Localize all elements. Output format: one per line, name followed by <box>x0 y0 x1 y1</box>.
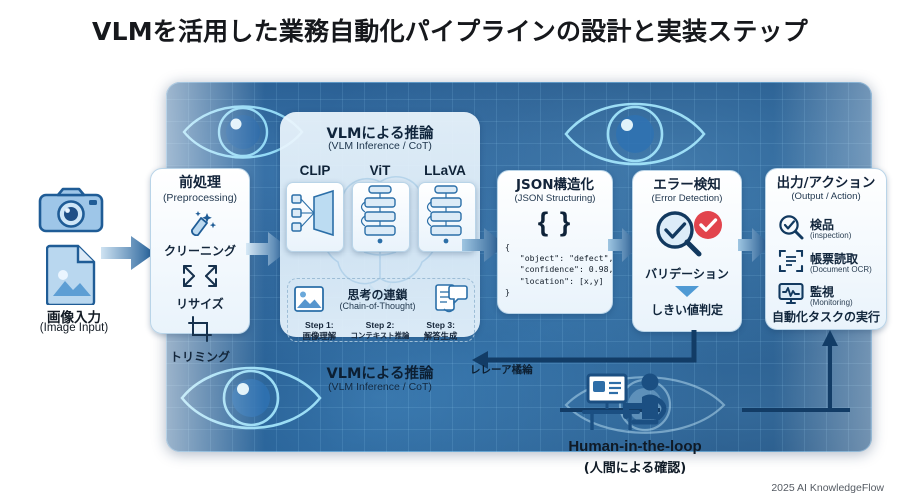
cleaning-sparkle-icon <box>183 210 217 241</box>
model-name-vit: ViT <box>350 163 410 178</box>
diagram-canvas: VLMを活用した業務自動化パイプラインの設計と実装ステップ <box>0 0 900 502</box>
preprocessing-item-0-label: クリーニング <box>164 242 236 259</box>
output-item-0-en: (inspection) <box>810 232 851 240</box>
model-name-clip: CLIP <box>285 163 345 178</box>
input-label-en: (Image Input) <box>16 322 132 334</box>
model-name-llava: LLaVA <box>415 163 475 178</box>
error-title-en: (Error Detection) <box>633 194 741 205</box>
output-item-ocr[interactable]: 帳票読取 (Document OCR) <box>778 248 872 279</box>
ocr-scan-icon <box>778 248 804 279</box>
cot-step-3-label: 解答生成 <box>410 330 471 342</box>
cot-step-1-label: 画像理解 <box>289 330 350 342</box>
cot-steps: Step 1: 画像理解 Step 2: コンテキスト推論 Step 3: 解答… <box>289 320 471 342</box>
model-card-vit[interactable] <box>352 182 410 252</box>
camera-icon <box>38 185 104 240</box>
clip-architecture-icon <box>287 183 341 243</box>
cot-step-3-number: Step 3: <box>410 320 471 330</box>
vlm-bottom-title-en: (VLM Inference / CoT) <box>270 381 490 393</box>
output-title-jp: 出力/アクション <box>766 176 886 191</box>
card-error-detection[interactable]: エラー検知 (Error Detection) バリデーション しきい値判定 <box>632 170 742 332</box>
output-title-en: (Output / Action) <box>766 192 886 203</box>
resize-arrows-icon <box>180 263 220 294</box>
footer-watermark: 2025 AI KnowledgeFlow <box>771 482 884 494</box>
crop-icon <box>185 316 215 347</box>
page-title: VLMを活用した業務自動化パイプラインの設計と実装ステップ <box>0 12 900 48</box>
hil-title: Human-in-the-loop <box>520 438 750 455</box>
preprocessing-title-jp: 前処理 <box>151 176 249 192</box>
card-json-structuring[interactable]: JSON構造化 (JSON Structuring) { } { "object… <box>497 170 613 314</box>
json-code-sample: { "object": "defect", "confidence": 0.98… <box>505 242 612 299</box>
card-output-action[interactable]: 出力/アクション (Output / Action) 検品 (inspectio… <box>765 168 887 330</box>
cot-step-1: Step 1: 画像理解 <box>289 320 350 342</box>
json-title-en: (JSON Structuring) <box>498 194 612 205</box>
model-card-clip[interactable] <box>286 182 344 252</box>
output-item-2-en: (Monitoring) <box>810 299 853 307</box>
preprocessing-item-2-label: トリミング <box>170 348 230 365</box>
cot-step-3: Step 3: 解答生成 <box>410 320 471 342</box>
error-mid-label: バリデーション <box>633 265 741 282</box>
json-braces-icon: { } <box>498 209 612 236</box>
cot-step-2: Step 2: コンテキスト推論 <box>350 320 411 341</box>
cot-title-en: (Chain-of-Thought) <box>320 301 435 311</box>
card-preprocessing[interactable]: 前処理 (Preprocessing) クリーニング <box>150 168 250 334</box>
output-item-1-en: (Document OCR) <box>810 266 872 274</box>
feedback-label: レレーア橘綸 <box>470 362 533 377</box>
error-bottom-label: しきい値判定 <box>633 301 741 318</box>
arrow-input-to-preprocess <box>101 236 155 275</box>
red-check-badge-icon <box>694 211 722 239</box>
output-item-1-jp: 帳票読取 <box>810 253 872 266</box>
output-item-2-jp: 監視 <box>810 286 853 299</box>
output-item-0-jp: 検品 <box>810 219 851 232</box>
preprocessing-item-1-label: リサイズ <box>176 295 224 312</box>
inspection-magnifier-icon <box>778 214 804 245</box>
hil-subtitle: (人間による確認) <box>520 457 750 476</box>
cot-step-2-label: コンテキスト推論 <box>350 330 411 341</box>
error-title-jp: エラー検知 <box>633 178 741 193</box>
json-title-jp: JSON構造化 <box>498 178 612 193</box>
vlm-model-names: CLIP ViT LLaVA <box>285 163 475 178</box>
preprocessing-title-en: (Preprocessing) <box>151 193 249 205</box>
document-reasoning-icon <box>434 283 468 320</box>
cot-step-2-number: Step 2: <box>350 320 411 330</box>
chevron-down-icon <box>633 285 741 298</box>
output-footer-label: 自動化タスクの実行 <box>766 308 886 325</box>
image-file-icon <box>46 243 98 310</box>
cot-step-1-number: Step 1: <box>289 320 350 330</box>
vit-architecture-icon <box>353 183 407 247</box>
person-at-desk-icon <box>582 372 674 439</box>
vlm-title-en: (VLM Inference / CoT) <box>280 140 480 152</box>
magnifier-check-icon <box>645 209 729 257</box>
vlm-bottom-title-jp: VLMによる推論 <box>270 362 490 383</box>
output-item-inspection[interactable]: 検品 (inspection) <box>778 214 851 245</box>
